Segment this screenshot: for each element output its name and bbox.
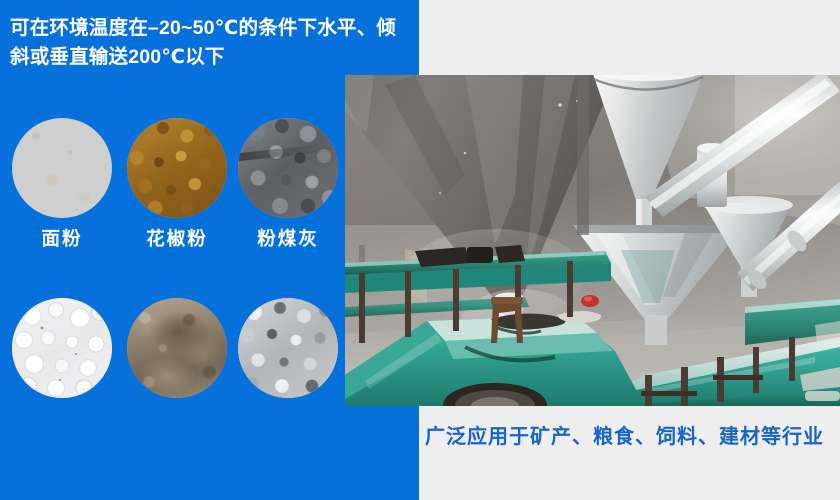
fertilizer-thumbnail (12, 298, 112, 398)
cement-thumbnail (127, 298, 227, 398)
screw-conveyor-installation-photo (345, 75, 840, 406)
material-item-fly-ash[interactable]: 粉煤灰 (228, 118, 348, 250)
pepper-powder-thumbnail (127, 118, 227, 218)
material-item-pepper-powder[interactable]: 花椒粉 (117, 118, 237, 250)
concrete-thumbnail (238, 298, 338, 398)
industries-caption: 广泛应用于矿产、粮食、饲料、建材等行业 (425, 424, 835, 450)
left-blue-panel-bottom (0, 406, 419, 500)
material-label: 花椒粉 (117, 228, 237, 250)
fly-ash-thumbnail (238, 118, 338, 218)
material-label: 面粉 (2, 228, 122, 250)
page-title: 可在环境温度在–20~50℃的条件下水平、倾斜或垂直输送200℃以下 (10, 14, 410, 72)
material-item-flour[interactable]: 面粉 (2, 118, 122, 250)
flour-thumbnail (12, 118, 112, 218)
promo-banner: 可在环境温度在–20~50℃的条件下水平、倾斜或垂直输送200℃以下 面粉 花椒… (0, 0, 840, 500)
material-label: 粉煤灰 (228, 228, 348, 250)
